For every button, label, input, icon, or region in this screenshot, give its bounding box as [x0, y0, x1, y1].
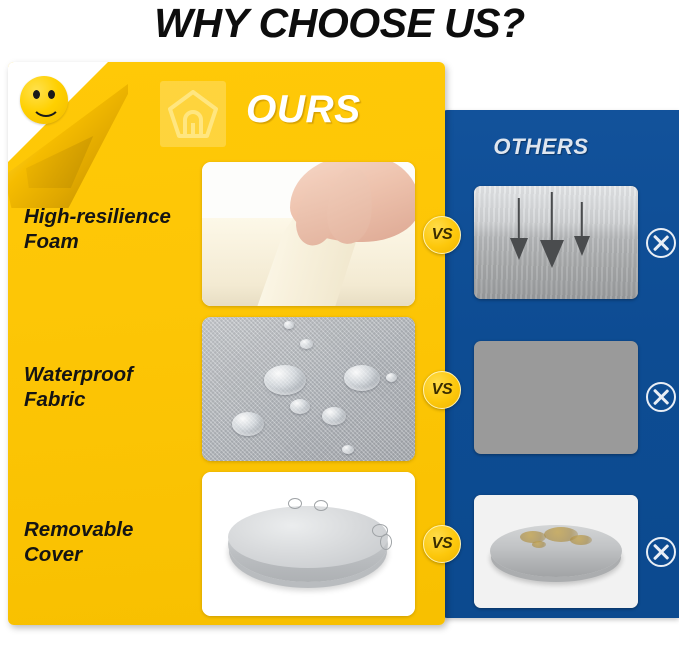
x-circle-icon: [646, 228, 676, 258]
water-droplet: [300, 339, 313, 349]
others-label: OTHERS: [443, 134, 639, 160]
feature-label-waterproof-fabric: Waterproof Fabric: [24, 362, 209, 412]
cushion-tie-strap: [380, 534, 392, 550]
smiley-face-icon: [20, 76, 68, 124]
vs-badge: VS: [423, 525, 461, 563]
foam-scene: [202, 162, 415, 306]
ours-photo-waterproof: [202, 317, 415, 461]
smiley-mouth: [31, 96, 61, 117]
feature-label-line2: Fabric: [24, 387, 209, 412]
page-title: WHY CHOOSE US?: [0, 0, 679, 46]
others-panel: OTHERS: [443, 110, 679, 618]
ours-label: OURS: [246, 88, 361, 132]
cushion-tie-strap: [314, 500, 328, 511]
others-photo-compression: [474, 186, 638, 299]
water-droplet: [322, 407, 346, 425]
feature-label-high-resilience-foam: High-resilience Foam: [24, 204, 209, 254]
vs-badge: VS: [423, 371, 461, 409]
wet-fabric-texture: [474, 341, 638, 454]
ours-photo-foam: [202, 162, 415, 306]
x-circle-icon: [646, 537, 676, 567]
water-droplet: [264, 365, 306, 395]
cushion-tie-strap: [288, 498, 302, 509]
house-pentagon-icon: [168, 90, 218, 138]
down-arrow-icon: [574, 202, 590, 260]
water-droplet: [290, 399, 310, 414]
stain-spot: [532, 541, 546, 548]
vs-badge: VS: [423, 216, 461, 254]
stained-cushion-scene: [474, 495, 638, 608]
feature-label-line1: Removable: [24, 517, 209, 542]
feature-label-line2: Foam: [24, 229, 209, 254]
water-droplet: [386, 373, 397, 382]
brand-logo-box: [160, 81, 226, 147]
down-arrow-icon: [540, 192, 564, 272]
waterproof-fabric-texture: [202, 317, 415, 461]
stain-spot: [570, 535, 592, 545]
feature-label-line1: High-resilience: [24, 204, 209, 229]
ours-panel: OURS High-resilience Foam Waterproof Fab…: [8, 62, 445, 625]
water-droplet: [284, 321, 294, 329]
down-arrow-icon: [510, 198, 528, 260]
water-droplet: [344, 365, 380, 391]
ours-photo-removable-cover: [202, 472, 415, 616]
water-droplet: [342, 445, 354, 454]
clean-cushion-scene: [202, 472, 415, 616]
cushion-base: [228, 506, 388, 582]
feature-label-line1: Waterproof: [24, 362, 209, 387]
feature-label-removable-cover: Removable Cover: [24, 517, 209, 567]
water-droplet: [232, 412, 264, 436]
x-circle-icon: [646, 382, 676, 412]
feature-label-line2: Cover: [24, 542, 209, 567]
others-photo-stained-cushion: [474, 495, 638, 608]
cushion-top-surface: [228, 506, 388, 568]
others-photo-wet-fabric: [474, 341, 638, 454]
